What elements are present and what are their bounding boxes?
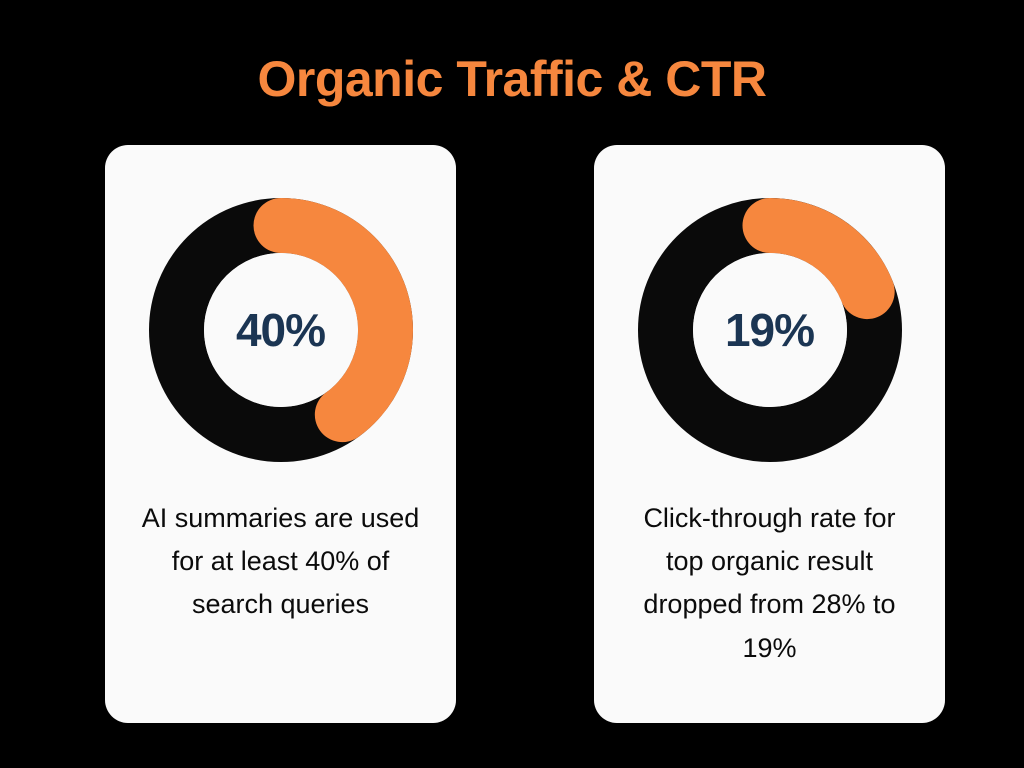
donut-svg — [149, 198, 413, 462]
page-title: Organic Traffic & CTR — [0, 52, 1024, 107]
stat-card-caption: Click-through rate for top organic resul… — [625, 497, 915, 670]
slide-root: Organic Traffic & CTR 40% AI summaries a… — [0, 0, 1024, 768]
donut-svg — [638, 198, 902, 462]
stat-card-group: 40% AI summaries are used for at least 4… — [105, 145, 945, 723]
stat-card-ai-summaries: 40% AI summaries are used for at least 4… — [105, 145, 456, 723]
stat-card-ctr-top-organic: 19% Click-through rate for top organic r… — [594, 145, 945, 723]
stat-card-caption: AI summaries are used for at least 40% o… — [136, 497, 426, 627]
donut-hole — [204, 253, 358, 407]
donut-chart-ctr-top-organic: 19% — [638, 198, 902, 462]
donut-chart-ai-summaries: 40% — [149, 198, 413, 462]
donut-hole — [693, 253, 847, 407]
